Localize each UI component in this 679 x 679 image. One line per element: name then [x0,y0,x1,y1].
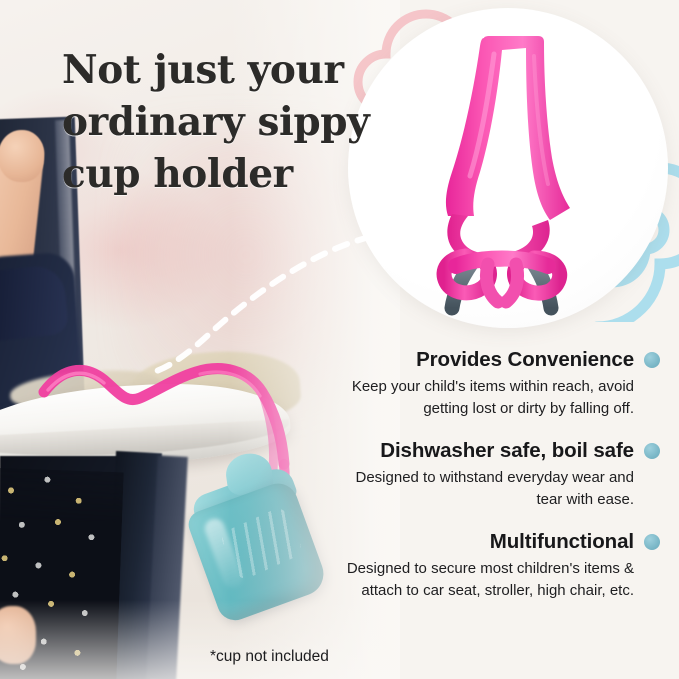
headline-line-2: ordinary sippy [62,96,392,148]
product-inset-circle [348,8,668,328]
feature-item: Multifunctional Designed to secure most … [330,530,660,601]
feature-description: Designed to secure most children's items… [330,558,660,601]
feature-title: Dishwasher safe, boil safe [380,439,634,463]
feature-list: Provides Convenience Keep your child's i… [330,348,660,621]
feature-item: Dishwasher safe, boil safe Designed to w… [330,439,660,510]
dot-icon [644,443,660,459]
footnote-disclaimer: *cup not included [210,648,329,666]
silicone-strap-holder-icon [348,8,668,328]
page-title: Not just your ordinary sippy cup holder [62,44,392,200]
feature-title: Multifunctional [490,530,634,554]
baby-fist [0,130,44,182]
dot-icon [644,534,660,550]
feature-title: Provides Convenience [416,348,634,372]
infographic-canvas: Not just your ordinary sippy cup holder … [0,0,679,679]
feature-heading-row: Multifunctional [330,530,660,554]
feature-heading-row: Dishwasher safe, boil safe [330,439,660,463]
headline-line-1: Not just your [62,47,344,93]
feature-heading-row: Provides Convenience [330,348,660,372]
feature-description: Keep your child's items within reach, av… [330,376,660,419]
feature-description: Designed to withstand everyday wear and … [330,467,660,510]
feature-item: Provides Convenience Keep your child's i… [330,348,660,419]
dot-icon [644,352,660,368]
headline-line-3: cup holder [62,148,392,200]
